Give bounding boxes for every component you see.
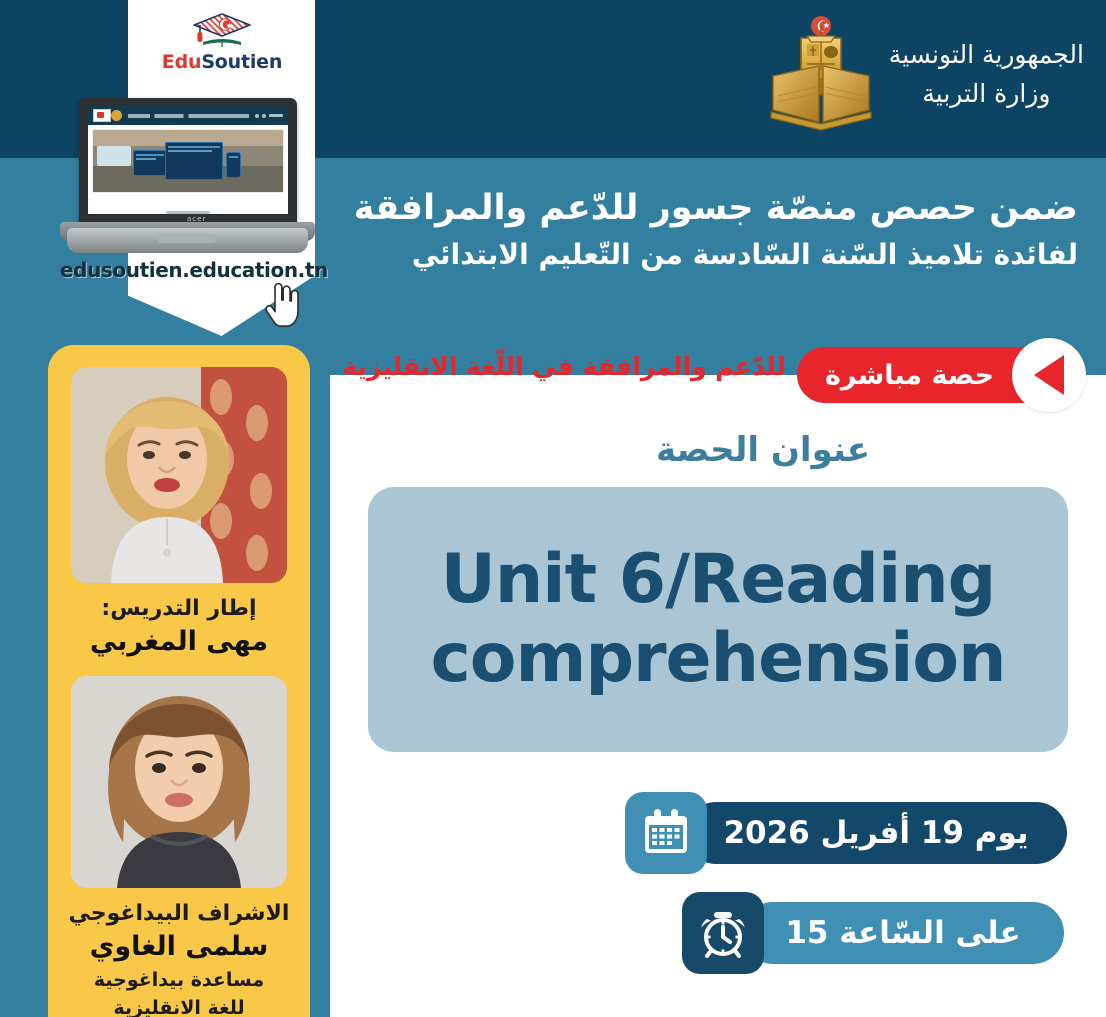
teacher-2-role-label: الاشراف البيداغوجي bbox=[48, 900, 310, 928]
navbar-left-controls bbox=[255, 114, 283, 118]
session-date-text: يوم 19 أفريل 2026 bbox=[685, 802, 1067, 864]
laptop-lid: acer bbox=[79, 98, 297, 226]
session-title-label: عنوان الحصة bbox=[656, 430, 870, 470]
live-session-badge[interactable]: حصة مباشرة bbox=[797, 338, 1086, 412]
play-triangle-icon bbox=[1034, 355, 1064, 395]
graduation-cap-icon bbox=[191, 12, 253, 52]
hand-cursor-icon bbox=[262, 283, 302, 329]
website-url-text[interactable]: edusoutien.education.tn bbox=[60, 258, 320, 282]
hero-device-laptop-large bbox=[165, 142, 223, 180]
teacher-2-name: سلمى الغاوي bbox=[48, 930, 310, 964]
ministry-branding: الجمهورية التونسية وزارة التربية bbox=[767, 14, 1084, 136]
teacher-1-name: مهى المغربي bbox=[48, 625, 310, 659]
calendar-icon bbox=[625, 792, 707, 874]
hero-device-phone bbox=[226, 152, 241, 178]
session-time-row: على السّاعة 15 bbox=[682, 892, 1064, 974]
logo-word-edu: Edu bbox=[162, 51, 202, 73]
navbar-menu-placeholder bbox=[128, 114, 249, 118]
hero-text-panel bbox=[97, 146, 131, 166]
teacher-2-detail-1: مساعدة بيداغوجية bbox=[48, 968, 310, 993]
teacher-1-role-label: إطار التدريس: bbox=[48, 595, 310, 623]
session-time-text: على السّاعة 15 bbox=[742, 902, 1064, 964]
ministry-line-department: وزارة التربية bbox=[889, 75, 1084, 114]
session-title-card: Unit 6/Reading comprehension bbox=[368, 487, 1068, 752]
nav-dot-icon bbox=[262, 114, 266, 118]
website-hero-image bbox=[92, 129, 284, 193]
teacher-photo-1 bbox=[71, 367, 287, 583]
alarm-clock-icon bbox=[682, 892, 764, 974]
session-title-value: Unit 6/Reading comprehension bbox=[368, 541, 1068, 699]
laptop-touchpad bbox=[158, 234, 216, 243]
navbar-avatar-icon bbox=[111, 110, 122, 121]
hero-device-laptop-small bbox=[133, 150, 167, 176]
teacher-2-detail-2: للغة الانقليزية bbox=[48, 996, 310, 1017]
logo-word-soutien: Soutien bbox=[201, 51, 282, 73]
session-announcement-poster: EduSoutien bbox=[0, 0, 1106, 1017]
laptop-mockup: acer bbox=[60, 98, 315, 253]
ministry-line-republic: الجمهورية التونسية bbox=[889, 36, 1084, 75]
heading-line-1: ضمن حصص منصّة جسور للدّعم والمرافقة bbox=[308, 186, 1078, 231]
edusoutien-logo-text: EduSoutien bbox=[139, 53, 305, 72]
hamburger-icon bbox=[269, 114, 283, 117]
play-button-icon[interactable] bbox=[1012, 338, 1086, 412]
website-navbar bbox=[88, 106, 288, 125]
laptop-screen bbox=[88, 106, 288, 214]
website-footer-placeholder bbox=[88, 199, 288, 214]
edusoutien-logo[interactable]: EduSoutien bbox=[139, 12, 305, 90]
ministry-text: الجمهورية التونسية وزارة التربية bbox=[889, 36, 1084, 114]
nav-dot-icon bbox=[255, 114, 259, 118]
live-subject-line: للدّعم والمرافقة في اللّغة الانقليزية bbox=[342, 352, 786, 381]
tunisia-ministry-emblem-icon bbox=[767, 14, 875, 136]
staff-card: إطار التدريس: مهى المغربي الاشراف البيدا… bbox=[48, 345, 310, 1017]
teacher-photo-2 bbox=[71, 676, 287, 888]
main-heading: ضمن حصص منصّة جسور للدّعم والمرافقة لفائ… bbox=[308, 186, 1078, 273]
heading-line-2: لفائدة تلاميذ السّنة السّادسة من التّعلي… bbox=[308, 237, 1078, 273]
session-date-row: يوم 19 أفريل 2026 bbox=[625, 792, 1067, 874]
navbar-flag-icon bbox=[93, 109, 111, 122]
